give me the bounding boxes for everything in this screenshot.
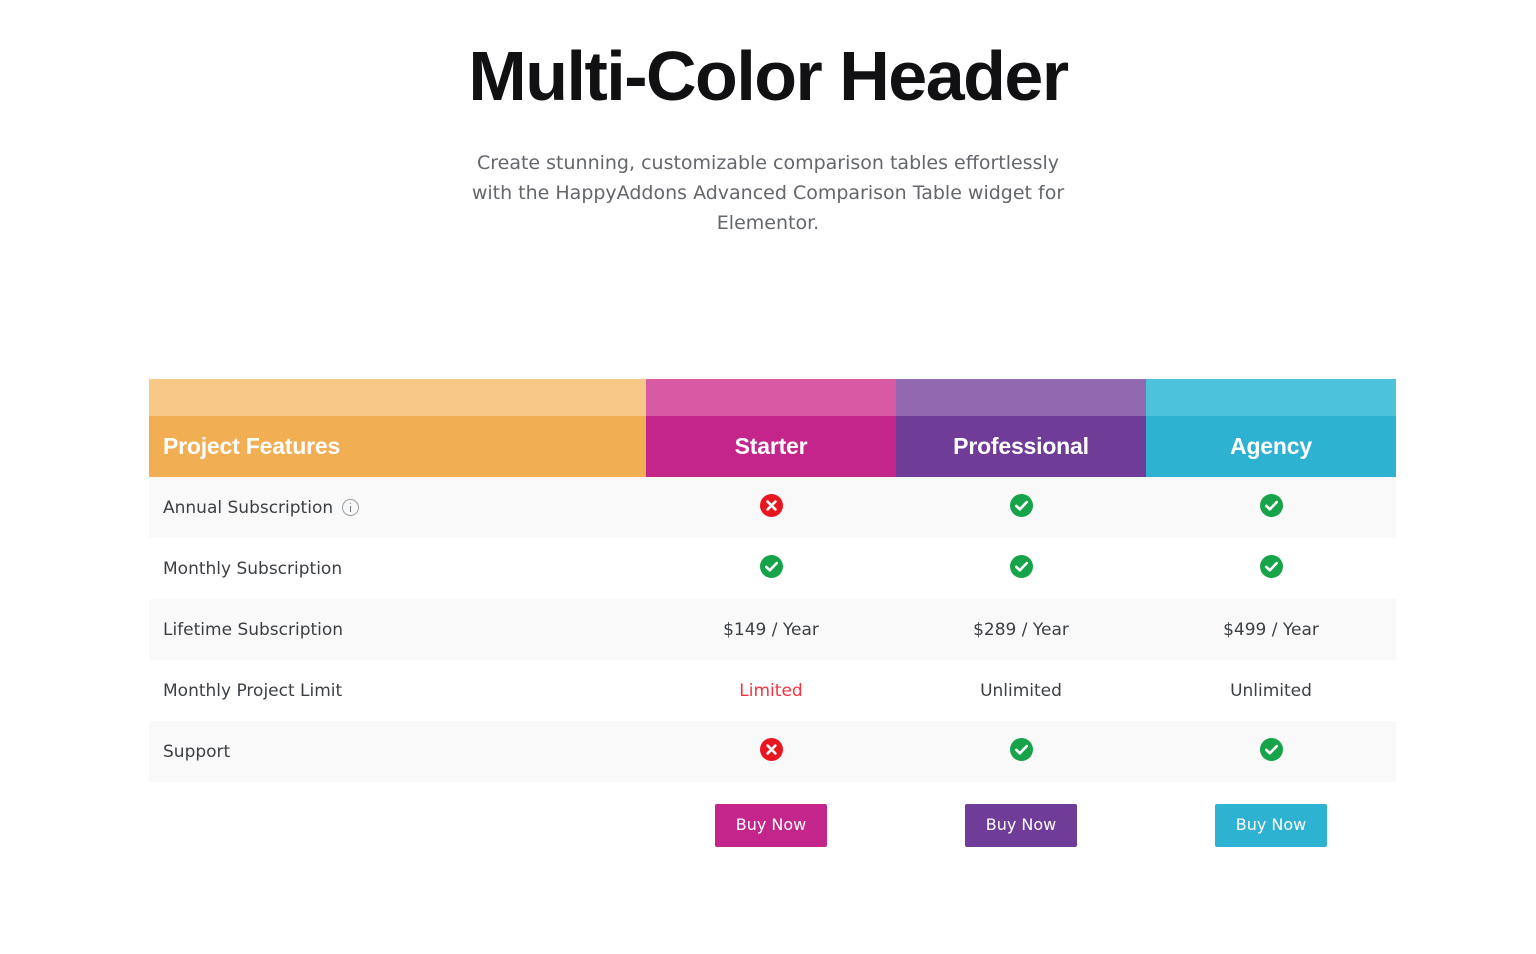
value-cell-starter: Limited [646,660,896,721]
feature-label-cell: Lifetime Subscription [149,599,646,660]
header-cell: Professional [896,379,1146,477]
cell-text: Unlimited [980,681,1062,701]
header-main-band: Agency [1146,416,1396,477]
cell-content: $149 / Year [646,620,896,640]
page-title: Multi-Color Header [0,40,1536,114]
feature-label-inner: Annual Subscription [163,498,646,518]
cell-content [646,555,896,578]
table-body: Annual SubscriptionMonthly SubscriptionL… [149,477,1396,782]
table-row: Support [149,721,1396,782]
value-cell-agency [1146,538,1396,599]
header-top-band [646,379,896,416]
cell-content [1146,738,1396,761]
cell-content [1146,555,1396,578]
cell-text: $149 / Year [723,620,819,640]
cell-content [646,738,896,761]
table-row: Monthly Subscription [149,538,1396,599]
value-cell-professional: $289 / Year [896,599,1146,660]
value-cell-professional [896,477,1146,538]
buy-now-button-agency[interactable]: Buy Now [1215,804,1328,847]
header-cell: Project Features [149,379,646,477]
column-header-label: Starter [646,433,896,460]
cell-text: $289 / Year [973,620,1069,640]
value-cell-agency: $499 / Year [1146,599,1396,660]
check-circle-icon [1260,494,1283,517]
page-subtitle: Create stunning, customizable comparison… [468,148,1068,238]
cell-content [896,738,1146,761]
feature-label: Lifetime Subscription [163,620,343,640]
page-root: Multi-Color Header Create stunning, cust… [0,0,1536,954]
cell-content [896,555,1146,578]
check-circle-icon [1260,738,1283,761]
feature-label-inner: Monthly Project Limit [163,681,646,701]
column-header-label: Professional [896,433,1146,460]
cell-text: $499 / Year [1223,620,1319,640]
check-circle-icon [1010,738,1033,761]
value-cell-starter [646,538,896,599]
buy-now-button-starter[interactable]: Buy Now [715,804,828,847]
table-footer-row: Buy NowBuy NowBuy Now [149,782,1396,868]
value-cell-agency: Unlimited [1146,660,1396,721]
header-cell: Agency [1146,379,1396,477]
value-cell-professional: Unlimited [896,660,1146,721]
feature-label: Annual Subscription [163,498,333,518]
header-cell: Starter [646,379,896,477]
column-header-starter: Starter [646,379,896,477]
value-cell-professional [896,538,1146,599]
value-cell-agency [1146,477,1396,538]
cell-content: Unlimited [1146,681,1396,701]
footer-cell-agency: Buy Now [1146,782,1396,868]
table-header-row: Project FeaturesStarterProfessionalAgenc… [149,379,1396,477]
header-main-band: Project Features [149,416,646,477]
cell-content: Limited [646,681,896,701]
header-top-band [896,379,1146,416]
info-icon[interactable] [342,499,359,516]
cell-content [646,494,896,517]
footer-cell-starter: Buy Now [646,782,896,868]
cell-text: Limited [739,681,802,701]
check-circle-icon [1010,555,1033,578]
footer-cell-professional: Buy Now [896,782,1146,868]
header-top-band [149,379,646,416]
column-header-features: Project Features [149,379,646,477]
table-header: Project FeaturesStarterProfessionalAgenc… [149,379,1396,477]
cross-circle-icon [760,494,783,517]
table-row: Monthly Project LimitLimitedUnlimitedUnl… [149,660,1396,721]
value-cell-starter [646,721,896,782]
feature-label-cell: Monthly Project Limit [149,660,646,721]
buy-now-button-professional[interactable]: Buy Now [965,804,1078,847]
comparison-table-wrapper: Project FeaturesStarterProfessionalAgenc… [149,379,1396,868]
value-cell-agency [1146,721,1396,782]
column-header-label: Project Features [149,433,646,460]
column-header-agency: Agency [1146,379,1396,477]
cell-content: Unlimited [896,681,1146,701]
table-row: Lifetime Subscription$149 / Year$289 / Y… [149,599,1396,660]
feature-label: Monthly Project Limit [163,681,342,701]
feature-label: Support [163,742,230,762]
table-footer: Buy NowBuy NowBuy Now [149,782,1396,868]
feature-label-cell: Support [149,721,646,782]
hero-section: Multi-Color Header Create stunning, cust… [0,0,1536,238]
cell-text: Unlimited [1230,681,1312,701]
value-cell-professional [896,721,1146,782]
value-cell-starter [646,477,896,538]
check-circle-icon [1260,555,1283,578]
cross-circle-icon [760,738,783,761]
cell-content: $499 / Year [1146,620,1396,640]
feature-label-cell: Annual Subscription [149,477,646,538]
feature-label-inner: Monthly Subscription [163,559,646,579]
cell-content [1146,494,1396,517]
table-row: Annual Subscription [149,477,1396,538]
feature-label: Monthly Subscription [163,559,342,579]
comparison-table: Project FeaturesStarterProfessionalAgenc… [149,379,1396,868]
header-main-band: Starter [646,416,896,477]
check-circle-icon [1010,494,1033,517]
feature-label-inner: Support [163,742,646,762]
feature-label-cell: Monthly Subscription [149,538,646,599]
header-top-band [1146,379,1396,416]
feature-label-inner: Lifetime Subscription [163,620,646,640]
column-header-label: Agency [1146,433,1396,460]
check-circle-icon [760,555,783,578]
value-cell-starter: $149 / Year [646,599,896,660]
footer-spacer-cell [149,782,646,868]
header-main-band: Professional [896,416,1146,477]
cell-content: $289 / Year [896,620,1146,640]
cell-content [896,494,1146,517]
column-header-professional: Professional [896,379,1146,477]
